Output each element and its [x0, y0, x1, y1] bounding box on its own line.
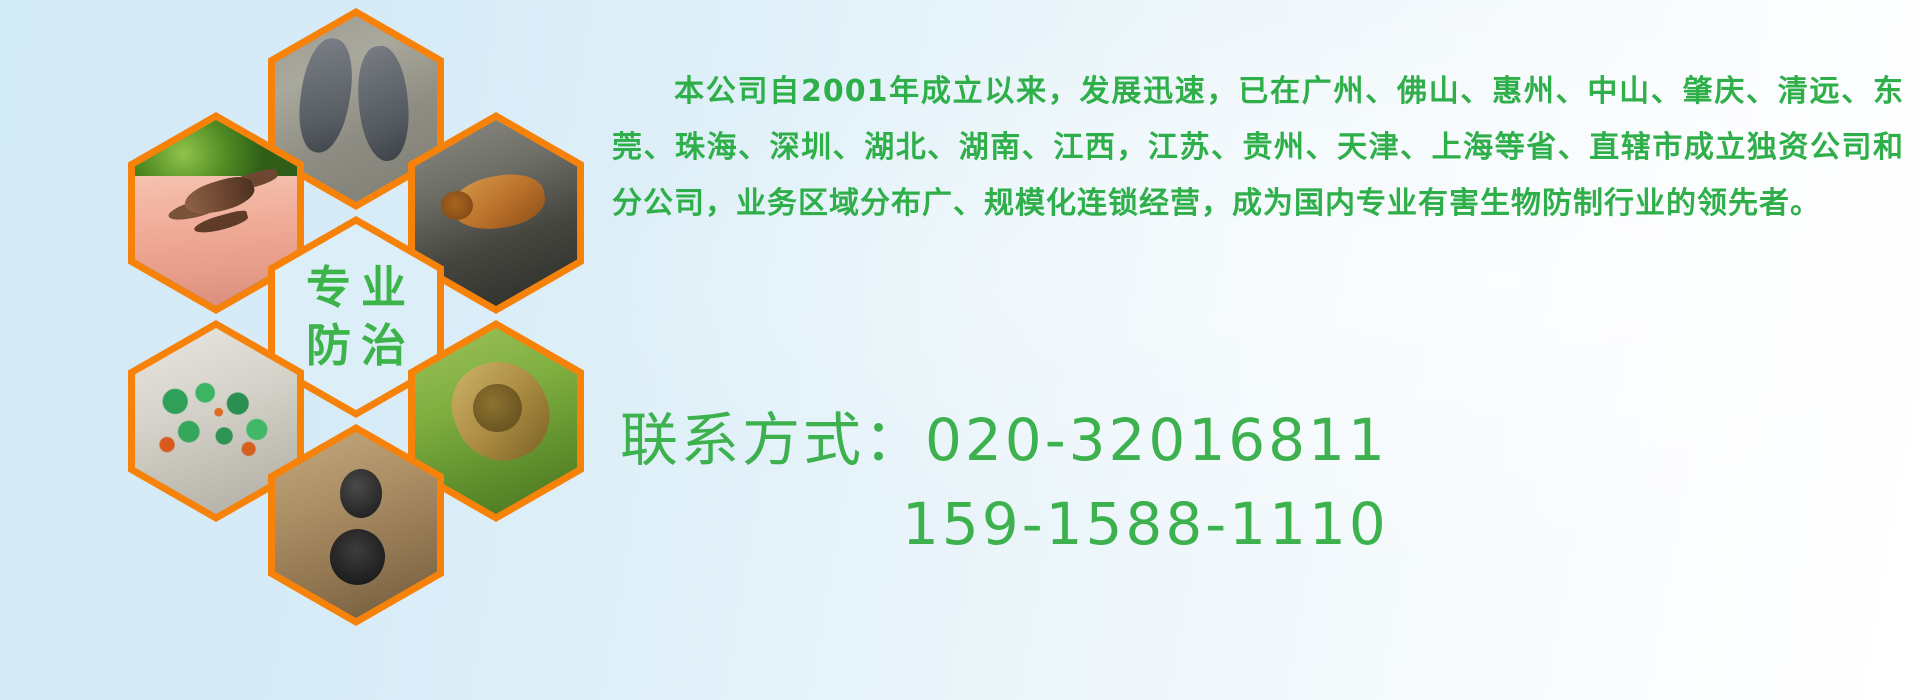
contact-secondary[interactable]: 159-1588-1110: [620, 482, 1389, 566]
honeycomb-gallery: 专业 防治: [92, 0, 592, 570]
copy-block: 本公司自2001年成立以来，发展迅速，已在广州、佛山、惠州、中山、肇庆、清远、东…: [612, 34, 1904, 262]
promo-banner: 专业 防治 本公司自2001年成立以来，发展迅速，已在广州、佛山、惠州、中山、肇…: [0, 0, 1920, 700]
slogan-line-1: 专业: [296, 259, 416, 317]
company-description: 本公司自2001年成立以来，发展迅速，已在广州、佛山、惠州、中山、肇庆、清远、东…: [612, 64, 1904, 232]
contact-primary[interactable]: 联系方式：020-32016811: [620, 398, 1389, 482]
contact-block: 联系方式：020-32016811 159-1588-1110: [620, 398, 1389, 566]
ant-photo: [275, 432, 437, 618]
slogan-line-2: 防治: [296, 317, 416, 375]
